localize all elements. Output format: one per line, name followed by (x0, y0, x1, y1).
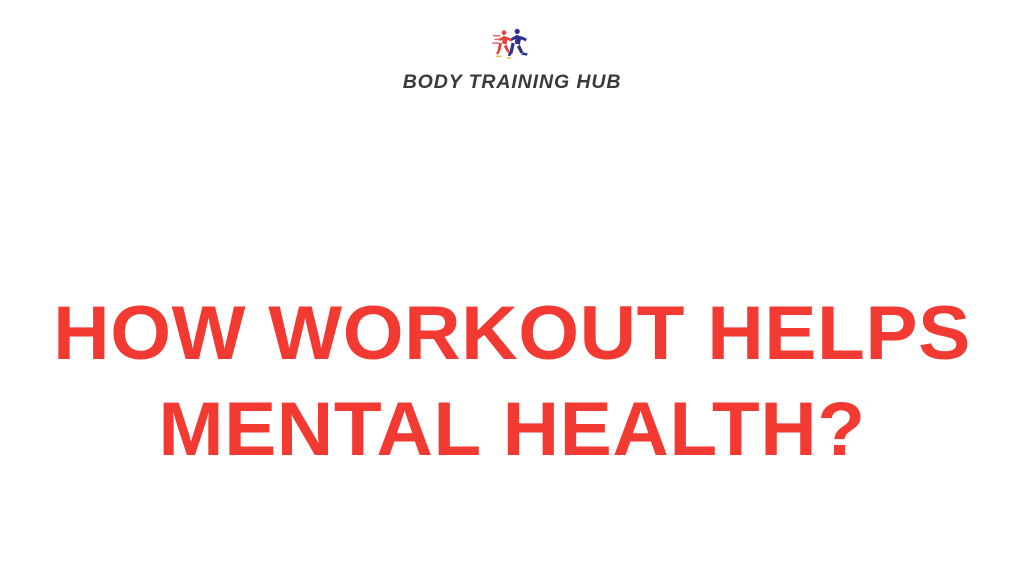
page-title: HOW WORKOUT HELPS MENTAL HEALTH? (0, 289, 1024, 474)
brand-name: BODY TRAINING HUB (403, 71, 622, 94)
slide-canvas: BODY TRAINING HUB HOW WORKOUT HELPS MENT… (0, 0, 1024, 576)
two-runners-icon (491, 26, 533, 64)
page-title-line-2: MENTAL HEALTH? (0, 385, 1024, 475)
page-title-line-1: HOW WORKOUT HELPS (0, 289, 1024, 379)
brand-logo: BODY TRAINING HUB (0, 26, 1024, 94)
